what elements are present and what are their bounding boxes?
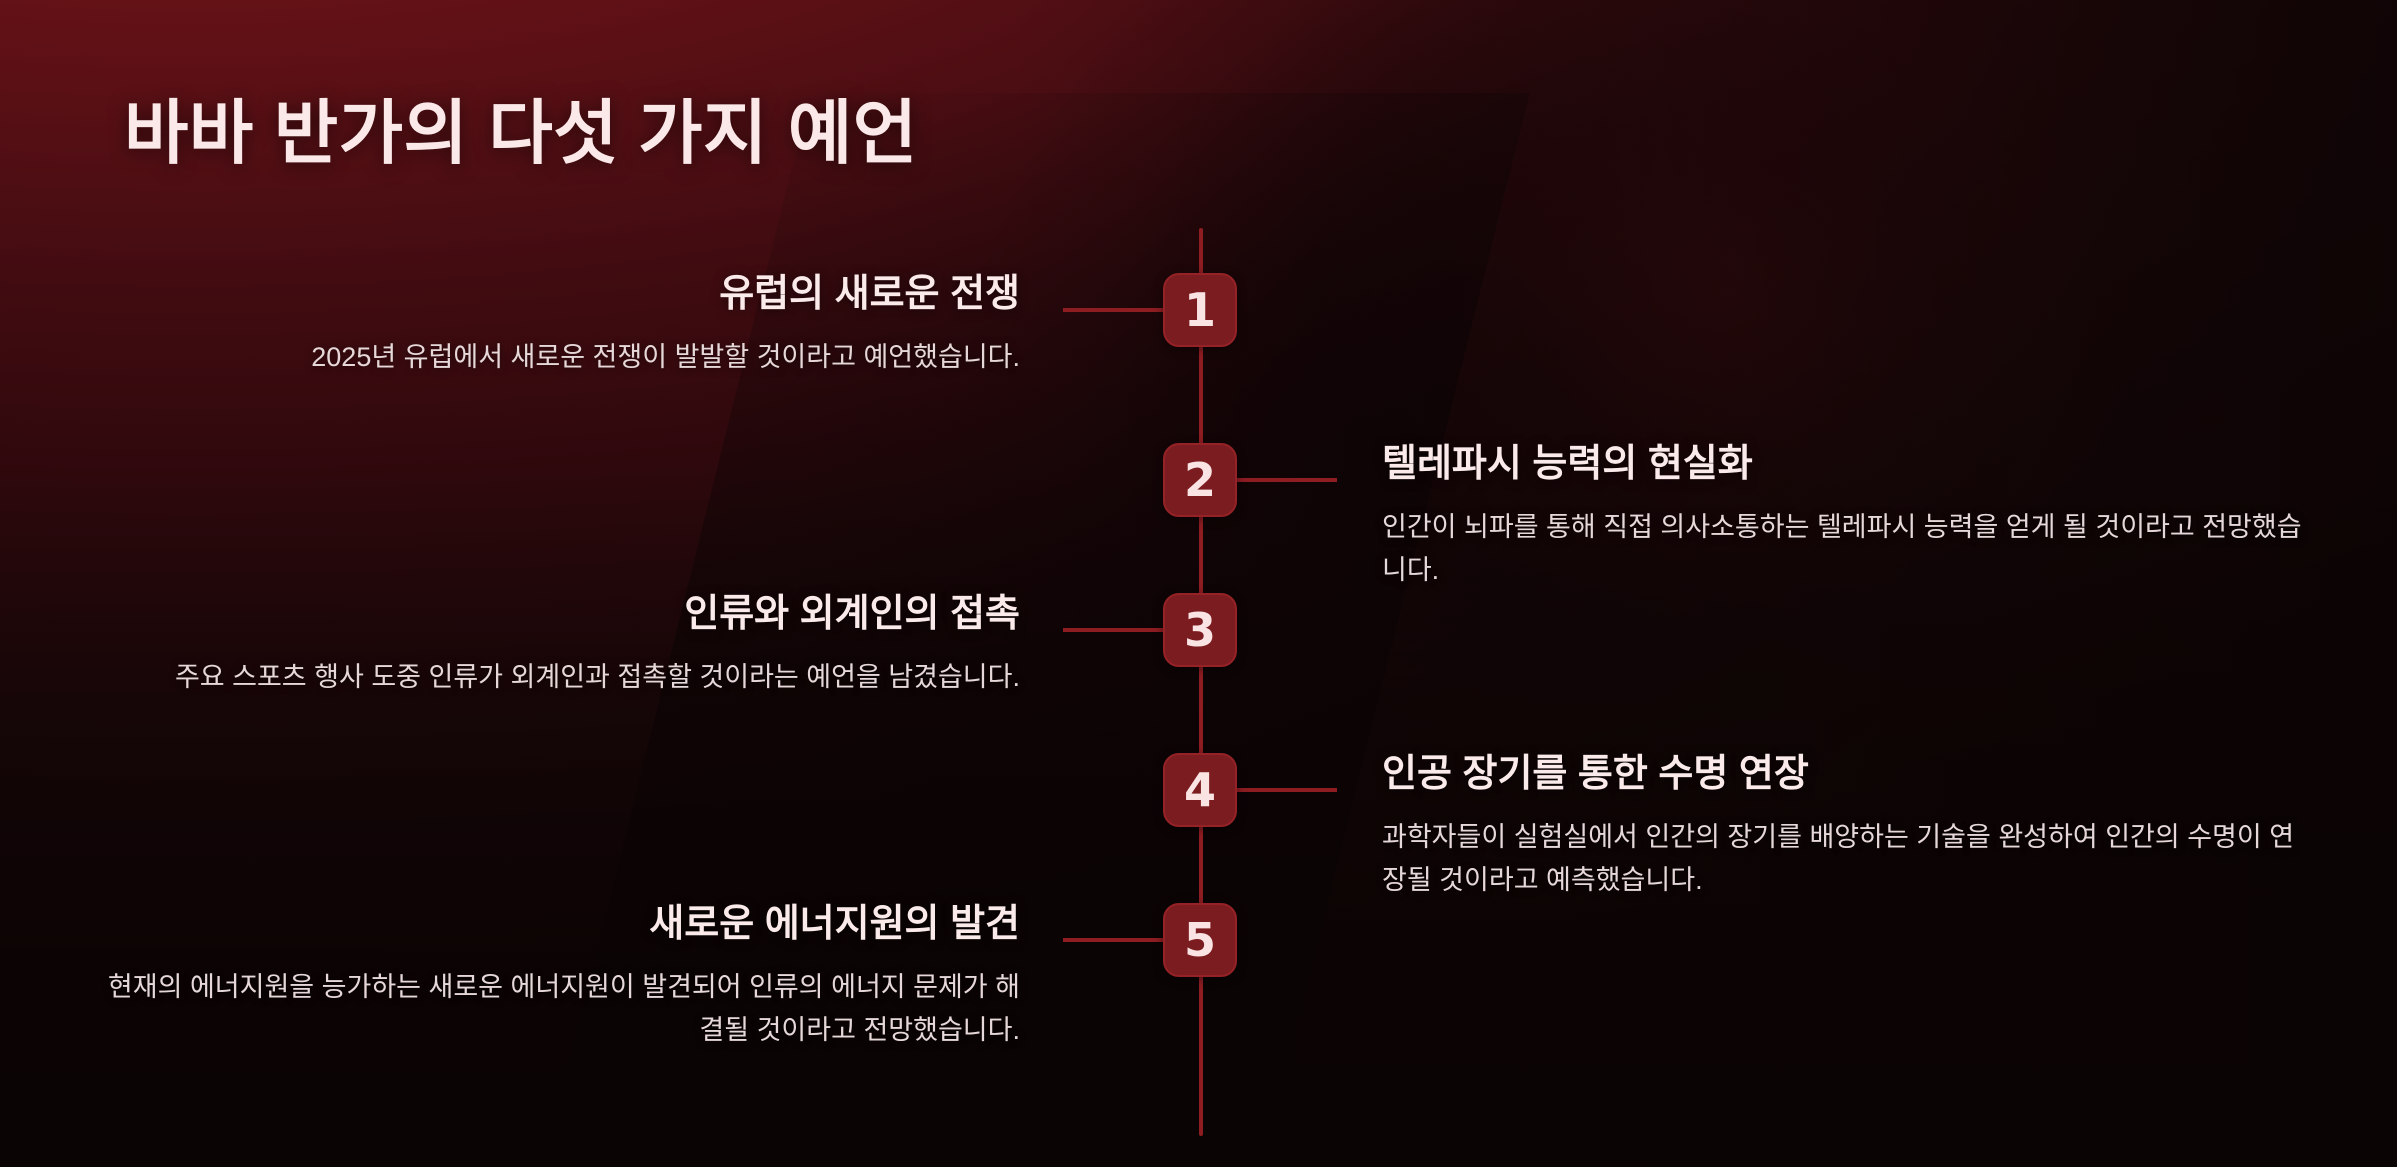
timeline-body-5: 현재의 에너지원을 능가하는 새로운 에너지원이 발견되어 인류의 에너지 문제… [100,966,1020,1053]
timeline-body-1: 2025년 유럽에서 새로운 전쟁이 발발할 것이라고 예언했습니다. [100,336,1020,380]
timeline-body-2: 인간이 뇌파를 통해 직접 의사소통하는 텔레파시 능력을 얻게 될 것이라고 … [1382,506,2302,593]
infographic-canvas: 바바 반가의 다섯 가지 예언 1 유럽의 새로운 전쟁 2025년 유럽에서 … [0,0,2397,1167]
timeline-block-5: 새로운 에너지원의 발견 현재의 에너지원을 능가하는 새로운 에너지원이 발견… [100,902,1020,1053]
timeline-connector-2 [1235,478,1337,482]
timeline-heading-4: 인공 장기를 통한 수명 연장 [1382,752,2302,798]
timeline-block-3: 인류와 외계인의 접촉 주요 스포츠 행사 도중 인류가 외계인과 접촉할 것이… [100,592,1020,699]
timeline-node-number-4: 4 [1184,767,1216,813]
timeline-heading-1: 유럽의 새로운 전쟁 [100,272,1020,318]
timeline-node-number-2: 2 [1184,457,1216,503]
timeline-block-1: 유럽의 새로운 전쟁 2025년 유럽에서 새로운 전쟁이 발발할 것이라고 예… [100,272,1020,379]
timeline-connector-3 [1063,628,1165,632]
timeline-node-2[interactable]: 2 [1163,443,1237,517]
timeline-heading-5: 새로운 에너지원의 발견 [100,902,1020,948]
timeline-node-number-3: 3 [1184,607,1216,653]
timeline-spine [1199,228,1203,1136]
timeline-connector-1 [1063,308,1165,312]
timeline-connector-5 [1063,938,1165,942]
timeline-node-3[interactable]: 3 [1163,593,1237,667]
timeline-body-3: 주요 스포츠 행사 도중 인류가 외계인과 접촉할 것이라는 예언을 남겼습니다… [100,656,1020,700]
timeline-body-4: 과학자들이 실험실에서 인간의 장기를 배양하는 기술을 완성하여 인간의 수명… [1382,816,2302,903]
timeline-connector-4 [1235,788,1337,792]
timeline-heading-2: 텔레파시 능력의 현실화 [1382,442,2302,488]
timeline-node-1[interactable]: 1 [1163,273,1237,347]
page-title: 바바 반가의 다섯 가지 예언 [124,77,918,178]
timeline-heading-3: 인류와 외계인의 접촉 [100,592,1020,638]
timeline-node-number-5: 5 [1184,917,1216,963]
timeline-node-4[interactable]: 4 [1163,753,1237,827]
timeline-block-2: 텔레파시 능력의 현실화 인간이 뇌파를 통해 직접 의사소통하는 텔레파시 능… [1382,442,2302,593]
timeline-node-number-1: 1 [1184,287,1216,333]
timeline-node-5[interactable]: 5 [1163,903,1237,977]
timeline-block-4: 인공 장기를 통한 수명 연장 과학자들이 실험실에서 인간의 장기를 배양하는… [1382,752,2302,903]
